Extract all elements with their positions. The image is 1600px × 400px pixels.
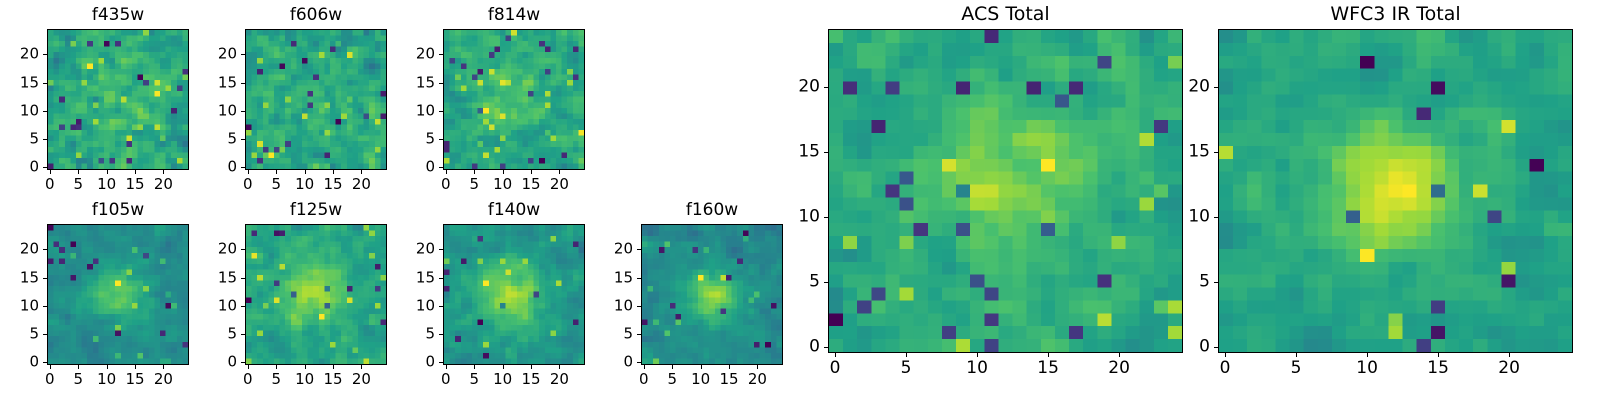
heatmap-cells-f160w (642, 225, 782, 364)
x-ticklabel-f606w-20: 20 (352, 177, 371, 192)
heatmap-cells-acs-total (829, 30, 1182, 352)
y-tick-acs-total-0 (824, 347, 828, 348)
heatmap-cells-f435w (48, 30, 188, 169)
panel-title-wfc3-ir-total: WFC3 IR Total (1218, 3, 1573, 25)
x-ticklabel-wfc3-ir-total-15: 15 (1427, 360, 1449, 377)
y-ticklabel-f125w-5: 5 (199, 326, 237, 341)
y-ticklabel-f435w-0: 0 (1, 160, 39, 175)
x-ticklabel-f105w-20: 20 (154, 372, 173, 387)
x-ticklabel-f160w-10: 10 (691, 372, 710, 387)
x-tick-wfc3-ir-total-15 (1438, 353, 1439, 357)
x-tick-f105w-20 (163, 365, 164, 369)
x-tick-f140w-10 (503, 365, 504, 369)
x-tick-f435w-15 (135, 170, 136, 174)
y-ticklabel-f140w-10: 10 (397, 298, 435, 313)
x-ticklabel-f160w-5: 5 (667, 372, 677, 387)
panel-f125w: f125w0510152005101520 (199, 198, 387, 395)
x-ticklabel-f140w-5: 5 (469, 372, 479, 387)
y-ticklabel-f160w-15: 15 (595, 270, 633, 285)
x-tick-f140w-15 (531, 365, 532, 369)
x-ticklabel-f140w-10: 10 (493, 372, 512, 387)
y-ticklabel-f814w-15: 15 (397, 75, 435, 90)
x-ticklabel-f606w-10: 10 (295, 177, 314, 192)
x-ticklabel-acs-total-5: 5 (901, 360, 912, 377)
y-ticklabel-f105w-20: 20 (1, 242, 39, 257)
y-tick-f105w-20 (43, 249, 47, 250)
panel-title-f125w: f125w (245, 200, 387, 220)
y-tick-f125w-15 (241, 278, 245, 279)
y-ticklabel-f160w-5: 5 (595, 326, 633, 341)
panel-title-f814w: f814w (443, 5, 585, 25)
x-tick-f105w-15 (135, 365, 136, 369)
x-tick-f606w-20 (361, 170, 362, 174)
x-ticklabel-f160w-0: 0 (639, 372, 649, 387)
y-ticklabel-f125w-15: 15 (199, 270, 237, 285)
y-ticklabel-f435w-5: 5 (1, 131, 39, 146)
y-ticklabel-f105w-5: 5 (1, 326, 39, 341)
y-tick-acs-total-5 (824, 282, 828, 283)
x-ticklabel-wfc3-ir-total-5: 5 (1291, 360, 1302, 377)
panel-f606w: f606w0510152005101520 (199, 3, 387, 200)
x-ticklabel-wfc3-ir-total-20: 20 (1498, 360, 1520, 377)
y-tick-f435w-15 (43, 83, 47, 84)
panel-wfc3-ir-total: WFC3 IR Total0510152005101520 (1172, 3, 1573, 383)
x-tick-f140w-5 (474, 365, 475, 369)
y-tick-f140w-10 (439, 306, 443, 307)
y-ticklabel-f140w-0: 0 (397, 355, 435, 370)
x-tick-f160w-0 (644, 365, 645, 369)
x-tick-wfc3-ir-total-5 (1296, 353, 1297, 357)
x-tick-acs-total-15 (1048, 353, 1049, 357)
y-tick-f125w-10 (241, 306, 245, 307)
y-ticklabel-f606w-20: 20 (199, 47, 237, 62)
x-ticklabel-f125w-20: 20 (352, 372, 371, 387)
y-ticklabel-f160w-10: 10 (595, 298, 633, 313)
x-ticklabel-f105w-10: 10 (97, 372, 116, 387)
x-ticklabel-acs-total-15: 15 (1037, 360, 1059, 377)
x-ticklabel-f105w-0: 0 (45, 372, 55, 387)
heatmap-cells-f606w (246, 30, 386, 169)
x-tick-f435w-20 (163, 170, 164, 174)
y-ticklabel-f606w-0: 0 (199, 160, 237, 175)
x-tick-acs-total-20 (1119, 353, 1120, 357)
y-tick-f606w-0 (241, 167, 245, 168)
heatmap-cells-f105w (48, 225, 188, 364)
x-ticklabel-f814w-10: 10 (493, 177, 512, 192)
heatmap-f125w (245, 224, 387, 365)
x-ticklabel-f160w-20: 20 (748, 372, 767, 387)
y-tick-f606w-10 (241, 111, 245, 112)
y-ticklabel-f140w-15: 15 (397, 270, 435, 285)
y-tick-f160w-20 (637, 249, 641, 250)
y-ticklabel-f125w-20: 20 (199, 242, 237, 257)
x-ticklabel-f125w-15: 15 (323, 372, 342, 387)
x-ticklabel-f606w-0: 0 (243, 177, 253, 192)
y-ticklabel-f160w-20: 20 (595, 242, 633, 257)
x-tick-f814w-0 (446, 170, 447, 174)
figure-canvas: f435w0510152005101520f606w05101520051015… (0, 0, 1600, 400)
y-tick-f814w-20 (439, 54, 443, 55)
x-ticklabel-f435w-10: 10 (97, 177, 116, 192)
heatmap-wfc3-ir-total (1218, 29, 1573, 353)
x-ticklabel-f814w-20: 20 (550, 177, 569, 192)
x-ticklabel-f125w-10: 10 (295, 372, 314, 387)
y-tick-f160w-15 (637, 278, 641, 279)
y-ticklabel-f140w-20: 20 (397, 242, 435, 257)
y-ticklabel-f105w-0: 0 (1, 355, 39, 370)
x-tick-f125w-20 (361, 365, 362, 369)
y-tick-f140w-20 (439, 249, 443, 250)
y-ticklabel-f814w-20: 20 (397, 47, 435, 62)
x-ticklabel-f435w-0: 0 (45, 177, 55, 192)
x-tick-f125w-0 (248, 365, 249, 369)
panel-acs-total: ACS Total0510152005101520 (782, 3, 1183, 383)
x-ticklabel-acs-total-10: 10 (966, 360, 988, 377)
x-tick-f435w-0 (50, 170, 51, 174)
y-ticklabel-f606w-5: 5 (199, 131, 237, 146)
heatmap-cells-f140w (444, 225, 584, 364)
x-tick-acs-total-5 (906, 353, 907, 357)
x-tick-f125w-5 (276, 365, 277, 369)
y-ticklabel-acs-total-10: 10 (782, 208, 820, 225)
x-tick-f814w-10 (503, 170, 504, 174)
y-tick-wfc3-ir-total-15 (1214, 152, 1218, 153)
y-ticklabel-f125w-10: 10 (199, 298, 237, 313)
panel-title-f606w: f606w (245, 5, 387, 25)
x-tick-f105w-5 (78, 365, 79, 369)
y-tick-f160w-5 (637, 334, 641, 335)
heatmap-cells-f125w (246, 225, 386, 364)
x-tick-f814w-15 (531, 170, 532, 174)
x-tick-wfc3-ir-total-20 (1509, 353, 1510, 357)
y-tick-f105w-0 (43, 362, 47, 363)
x-ticklabel-f435w-5: 5 (73, 177, 83, 192)
y-ticklabel-acs-total-15: 15 (782, 144, 820, 161)
y-ticklabel-f125w-0: 0 (199, 355, 237, 370)
y-tick-f814w-0 (439, 167, 443, 168)
y-ticklabel-acs-total-0: 0 (782, 338, 820, 355)
y-tick-f435w-0 (43, 167, 47, 168)
x-tick-f606w-5 (276, 170, 277, 174)
y-tick-f814w-5 (439, 139, 443, 140)
x-tick-acs-total-0 (835, 353, 836, 357)
y-ticklabel-f435w-15: 15 (1, 75, 39, 90)
heatmap-f160w (641, 224, 783, 365)
panel-f435w: f435w0510152005101520 (1, 3, 189, 200)
x-tick-f814w-5 (474, 170, 475, 174)
heatmap-f435w (47, 29, 189, 170)
x-tick-f435w-5 (78, 170, 79, 174)
y-tick-f140w-15 (439, 278, 443, 279)
x-ticklabel-f140w-20: 20 (550, 372, 569, 387)
x-tick-acs-total-10 (977, 353, 978, 357)
x-ticklabel-f140w-15: 15 (521, 372, 540, 387)
heatmap-cells-wfc3-ir-total (1219, 30, 1572, 352)
x-tick-f814w-20 (559, 170, 560, 174)
x-ticklabel-f814w-5: 5 (469, 177, 479, 192)
x-tick-f160w-15 (729, 365, 730, 369)
y-tick-f814w-10 (439, 111, 443, 112)
x-ticklabel-wfc3-ir-total-10: 10 (1356, 360, 1378, 377)
panel-title-f105w: f105w (47, 200, 189, 220)
y-tick-f814w-15 (439, 83, 443, 84)
y-tick-acs-total-10 (824, 217, 828, 218)
y-tick-f160w-10 (637, 306, 641, 307)
x-ticklabel-f435w-15: 15 (125, 177, 144, 192)
x-tick-f125w-10 (305, 365, 306, 369)
y-ticklabel-f606w-10: 10 (199, 103, 237, 118)
panel-title-f435w: f435w (47, 5, 189, 25)
y-tick-f125w-20 (241, 249, 245, 250)
y-tick-f435w-20 (43, 54, 47, 55)
y-tick-f105w-10 (43, 306, 47, 307)
x-tick-f160w-20 (757, 365, 758, 369)
panel-f105w: f105w0510152005101520 (1, 198, 189, 395)
y-ticklabel-f814w-5: 5 (397, 131, 435, 146)
x-tick-f160w-5 (672, 365, 673, 369)
y-tick-f435w-10 (43, 111, 47, 112)
x-tick-f125w-15 (333, 365, 334, 369)
heatmap-f814w (443, 29, 585, 170)
x-ticklabel-f125w-5: 5 (271, 372, 281, 387)
panel-f140w: f140w0510152005101520 (397, 198, 585, 395)
y-tick-f606w-15 (241, 83, 245, 84)
y-tick-f125w-5 (241, 334, 245, 335)
y-ticklabel-wfc3-ir-total-5: 5 (1172, 273, 1210, 290)
y-tick-acs-total-20 (824, 87, 828, 88)
x-tick-f140w-0 (446, 365, 447, 369)
y-tick-f160w-0 (637, 362, 641, 363)
x-tick-f140w-20 (559, 365, 560, 369)
x-ticklabel-wfc3-ir-total-0: 0 (1220, 360, 1231, 377)
y-ticklabel-acs-total-5: 5 (782, 273, 820, 290)
x-ticklabel-f105w-5: 5 (73, 372, 83, 387)
x-ticklabel-f160w-15: 15 (719, 372, 738, 387)
x-ticklabel-f125w-0: 0 (243, 372, 253, 387)
y-ticklabel-f105w-15: 15 (1, 270, 39, 285)
y-tick-f606w-5 (241, 139, 245, 140)
y-ticklabel-f160w-0: 0 (595, 355, 633, 370)
y-ticklabel-f435w-10: 10 (1, 103, 39, 118)
x-tick-f606w-15 (333, 170, 334, 174)
x-ticklabel-f814w-0: 0 (441, 177, 451, 192)
y-tick-acs-total-15 (824, 152, 828, 153)
y-ticklabel-acs-total-20: 20 (782, 79, 820, 96)
x-ticklabel-f606w-15: 15 (323, 177, 342, 192)
x-ticklabel-f105w-15: 15 (125, 372, 144, 387)
panel-title-f140w: f140w (443, 200, 585, 220)
x-ticklabel-f606w-5: 5 (271, 177, 281, 192)
x-tick-wfc3-ir-total-10 (1367, 353, 1368, 357)
y-tick-wfc3-ir-total-0 (1214, 347, 1218, 348)
y-ticklabel-f105w-10: 10 (1, 298, 39, 313)
panel-f814w: f814w0510152005101520 (397, 3, 585, 200)
y-tick-wfc3-ir-total-10 (1214, 217, 1218, 218)
y-tick-f140w-5 (439, 334, 443, 335)
y-tick-wfc3-ir-total-5 (1214, 282, 1218, 283)
heatmap-cells-f814w (444, 30, 584, 169)
y-ticklabel-f435w-20: 20 (1, 47, 39, 62)
y-ticklabel-f814w-0: 0 (397, 160, 435, 175)
heatmap-f140w (443, 224, 585, 365)
heatmap-f105w (47, 224, 189, 365)
y-tick-wfc3-ir-total-20 (1214, 87, 1218, 88)
heatmap-acs-total (828, 29, 1183, 353)
x-ticklabel-acs-total-0: 0 (830, 360, 841, 377)
panel-f160w: f160w0510152005101520 (595, 198, 783, 395)
y-tick-f435w-5 (43, 139, 47, 140)
y-tick-f105w-15 (43, 278, 47, 279)
x-tick-f435w-10 (107, 170, 108, 174)
x-ticklabel-f435w-20: 20 (154, 177, 173, 192)
y-tick-f140w-0 (439, 362, 443, 363)
y-tick-f606w-20 (241, 54, 245, 55)
y-tick-f105w-5 (43, 334, 47, 335)
y-ticklabel-wfc3-ir-total-0: 0 (1172, 338, 1210, 355)
x-tick-f160w-10 (701, 365, 702, 369)
x-tick-wfc3-ir-total-0 (1225, 353, 1226, 357)
panel-title-acs-total: ACS Total (828, 3, 1183, 25)
x-tick-f606w-0 (248, 170, 249, 174)
x-tick-f606w-10 (305, 170, 306, 174)
y-ticklabel-f140w-5: 5 (397, 326, 435, 341)
x-tick-f105w-10 (107, 365, 108, 369)
y-ticklabel-f606w-15: 15 (199, 75, 237, 90)
heatmap-f606w (245, 29, 387, 170)
x-ticklabel-f140w-0: 0 (441, 372, 451, 387)
y-ticklabel-wfc3-ir-total-20: 20 (1172, 79, 1210, 96)
y-ticklabel-wfc3-ir-total-15: 15 (1172, 144, 1210, 161)
y-ticklabel-wfc3-ir-total-10: 10 (1172, 208, 1210, 225)
x-tick-f105w-0 (50, 365, 51, 369)
x-ticklabel-f814w-15: 15 (521, 177, 540, 192)
panel-title-f160w: f160w (641, 200, 783, 220)
x-ticklabel-acs-total-20: 20 (1108, 360, 1130, 377)
y-tick-f125w-0 (241, 362, 245, 363)
y-ticklabel-f814w-10: 10 (397, 103, 435, 118)
